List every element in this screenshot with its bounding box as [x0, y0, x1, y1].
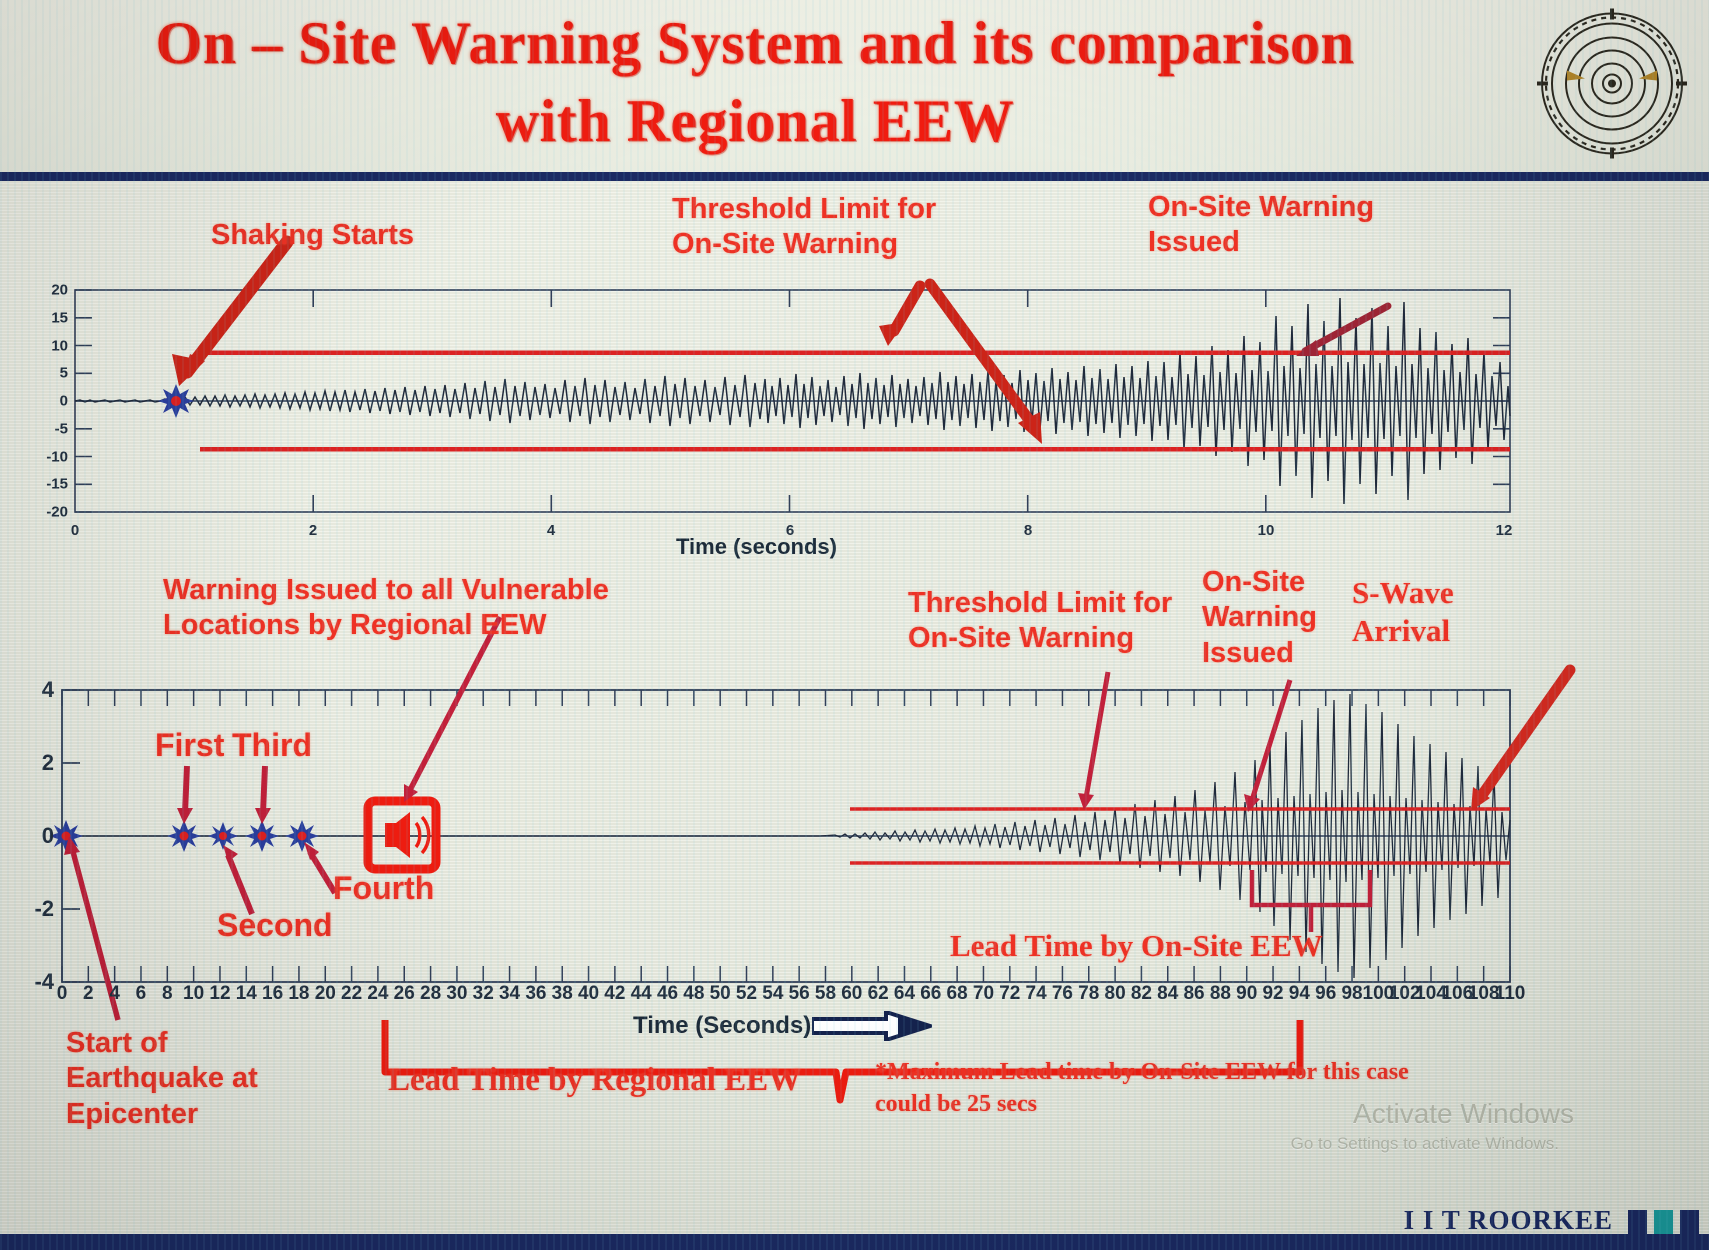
chart2-xtick-18: 18: [288, 983, 309, 1005]
chart2-xtick-32: 32: [473, 983, 494, 1005]
marker-second: [208, 822, 238, 850]
chart2-xtick-26: 26: [394, 983, 415, 1005]
chart2-xtick-64: 64: [894, 983, 915, 1005]
chart2-xtick-24: 24: [367, 983, 388, 1005]
chart2-xtick-74: 74: [1026, 983, 1047, 1005]
annotation-s-wave-arrival: S-Wave Arrival: [1352, 574, 1454, 650]
chart2-xtick-22: 22: [341, 983, 362, 1005]
marker-third: [245, 820, 279, 852]
chart2-xtick-4: 4: [109, 983, 120, 1005]
threshold-limit-arrow-a: [879, 286, 920, 346]
chart2-xtick-20: 20: [315, 983, 336, 1005]
annotation-second: Second: [217, 906, 333, 945]
chart2-xtick-84: 84: [1157, 983, 1178, 1005]
footer-note-line2: could be 25 secs: [875, 1090, 1037, 1119]
chart2-xtick-40: 40: [578, 983, 599, 1005]
arrow-threshold-limit-bottom: [1078, 672, 1108, 810]
chart1-xtick-0: 0: [71, 522, 79, 539]
annotation-onsite-warning-issued-bottom: On-Site Warning Issued: [1202, 565, 1317, 671]
chart2-xtick-96: 96: [1315, 983, 1336, 1005]
chart1-ytick-m20: -20: [28, 504, 68, 521]
onsite-warning-issued-arrow-top: [1296, 306, 1388, 356]
chart2-xtick-42: 42: [604, 983, 625, 1005]
chart1-xtick-12: 12: [1496, 522, 1513, 539]
chart2-xtick-56: 56: [789, 983, 810, 1005]
footer-note-line1: *Maximum Lead time by On-Site EEW for th…: [875, 1058, 1409, 1087]
chart2-ytick-0: 0: [16, 823, 54, 849]
chart1-ytick-10: 10: [28, 337, 68, 354]
chart2-xtick-28: 28: [420, 983, 441, 1005]
chart2-xtick-46: 46: [657, 983, 678, 1005]
arrow-onsite-warning-issued-bottom: [1244, 680, 1290, 812]
arrow-second: [223, 845, 252, 914]
chart2-xtick-66: 66: [920, 983, 941, 1005]
windows-activation-watermark-line2: Go to Settings to activate Windows.: [1291, 1134, 1559, 1154]
chart1-ytick-m5: -5: [28, 420, 68, 437]
chart2-ytick-4: 4: [16, 677, 54, 703]
chart2-xtick-38: 38: [552, 983, 573, 1005]
chart1-ytick-20: 20: [28, 282, 68, 299]
chart2-xtick-14: 14: [236, 983, 257, 1005]
annotation-threshold-limit-bottom: Threshold Limit for On-Site Warning: [908, 586, 1172, 657]
chart1-ytick-5: 5: [28, 365, 68, 382]
annotation-threshold-limit-top: Threshold Limit for On-Site Warning: [672, 192, 936, 263]
slide-header: On – Site Warning System and its compari…: [0, 0, 1709, 181]
chart1-xtick-2: 2: [309, 522, 317, 539]
chart2-xtick-76: 76: [1052, 983, 1073, 1005]
shaking-start-marker: [158, 384, 194, 418]
chart2-xtick-98: 98: [1341, 983, 1362, 1005]
annotation-regional-eew-warning: Warning Issued to all Vulnerable Locatio…: [163, 573, 609, 644]
chart2-xtick-70: 70: [973, 983, 994, 1005]
footer-swatch-navy: [1628, 1210, 1647, 1234]
marker-first: [167, 820, 201, 852]
annotation-third: Third: [232, 726, 312, 765]
chart1-xaxis-label: Time (seconds): [676, 534, 837, 560]
chart2-xtick-6: 6: [136, 983, 147, 1005]
chart2-xtick-110: 110: [1495, 983, 1526, 1005]
marker-fourth: [285, 820, 319, 852]
chart2-xtick-48: 48: [683, 983, 704, 1005]
annotation-first: First: [155, 726, 224, 765]
chart1-ytick-m15: -15: [28, 476, 68, 493]
annotation-fourth: Fourth: [333, 869, 434, 908]
chart1-ytick-15: 15: [28, 309, 68, 326]
chart2-xtick-92: 92: [1262, 983, 1283, 1005]
shaking-starts-arrow: [172, 242, 287, 386]
chart2-xtick-90: 90: [1236, 983, 1257, 1005]
chart1-ytick-0: 0: [28, 393, 68, 410]
footer-swatch-green: [1680, 1210, 1699, 1234]
arrow-regional-eew: [404, 617, 500, 802]
chart2-xtick-62: 62: [868, 983, 889, 1005]
chart2-ytick-m4: -4: [10, 969, 54, 995]
chart2-xtick-34: 34: [499, 983, 520, 1005]
chart2-xtick-0: 0: [57, 983, 68, 1005]
chart2-xtick-88: 88: [1210, 983, 1231, 1005]
chart2-xtick-68: 68: [947, 983, 968, 1005]
windows-activation-watermark-line1: Activate Windows: [1353, 1098, 1574, 1130]
iit-roorkee-emblem-icon: [1537, 6, 1687, 161]
arrow-fourth: [304, 842, 335, 893]
chart1-xtick-10: 10: [1258, 522, 1275, 539]
chart2-xtick-2: 2: [83, 983, 94, 1005]
chart2-xtick-12: 12: [209, 983, 230, 1005]
arrow-s-wave-arrival: [1471, 670, 1570, 811]
chart2-xtick-16: 16: [262, 983, 283, 1005]
footer-lead-time-regional: Lead Time by Regional EEW: [388, 1060, 801, 1100]
chart2-xtick-94: 94: [1289, 983, 1310, 1005]
footer-swatch-teal: [1654, 1210, 1673, 1234]
chart2-xtick-58: 58: [815, 983, 836, 1005]
page-title: On – Site Warning System and its compari…: [120, 4, 1390, 160]
arrow-third: [255, 766, 271, 824]
annotation-shaking-starts: Shaking Starts: [211, 218, 414, 253]
chart2-xtick-36: 36: [525, 983, 546, 1005]
marker-start-of-earthquake: [49, 820, 83, 852]
chart1-ytick-m10: -10: [28, 448, 68, 465]
annotation-lead-time-onsite: Lead Time by On-Site EEW: [950, 927, 1323, 965]
chart2-xtick-52: 52: [736, 983, 757, 1005]
chart1-xtick-8: 8: [1024, 522, 1032, 539]
chart2-xtick-78: 78: [1078, 983, 1099, 1005]
chart2-xtick-8: 8: [162, 983, 173, 1005]
chart2-xtick-30: 30: [446, 983, 467, 1005]
arrow-first: [177, 766, 193, 824]
chart2-xtick-86: 86: [1183, 983, 1204, 1005]
threshold-limit-arrow-b: [930, 284, 1042, 444]
chart2-xtick-54: 54: [762, 983, 783, 1005]
chart2-ytick-m2: -2: [10, 896, 54, 922]
chart2-xtick-50: 50: [710, 983, 731, 1005]
footer-bar: [0, 1234, 1709, 1250]
chart2-ytick-2: 2: [16, 750, 54, 776]
regional-eew-alert-icon: [368, 801, 436, 869]
chart2-xtick-82: 82: [1131, 983, 1152, 1005]
chart2-xtick-80: 80: [1105, 983, 1126, 1005]
chart2-xtick-60: 60: [841, 983, 862, 1005]
chart1-xtick-4: 4: [547, 522, 555, 539]
institute-footer-label: I I T ROORKEE: [1404, 1205, 1613, 1236]
annotation-onsite-warning-issued-top: On-Site Warning Issued: [1148, 190, 1374, 261]
chart2-xtick-10: 10: [183, 983, 204, 1005]
chart2-xtick-72: 72: [999, 983, 1020, 1005]
slide-canvas: On – Site Warning System and its compari…: [0, 0, 1709, 1250]
chart2-xtick-44: 44: [631, 983, 652, 1005]
